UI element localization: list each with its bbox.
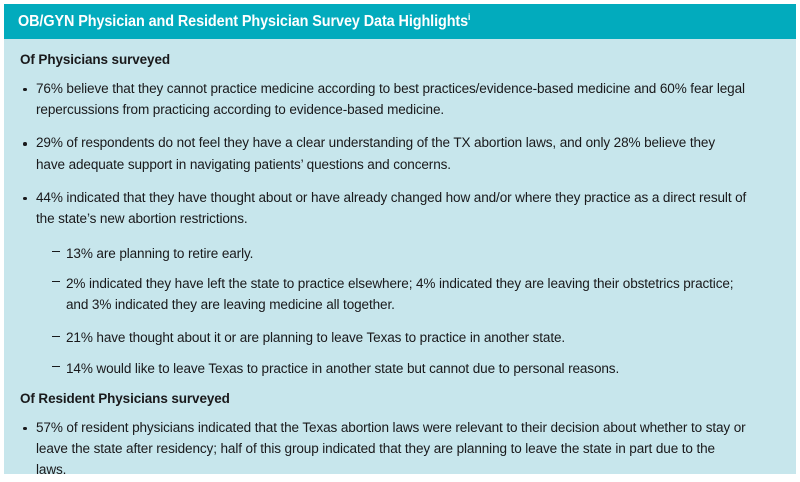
residents-bullet-list: 57% of resident physicians indicated tha… xyxy=(20,418,780,482)
bullet-dot-icon xyxy=(23,197,27,201)
section-heading-physicians: Of Physicians surveyed xyxy=(20,51,742,70)
dash-icon xyxy=(52,251,60,252)
survey-highlights-card: OB/GYN Physician and Resident Physician … xyxy=(4,4,796,474)
list-item-text: 57% of resident physicians indicated tha… xyxy=(36,418,747,482)
practice-change-sublist: 13% are planning to retire early. 2% ind… xyxy=(36,244,780,380)
sub-list-item: 2% indicated they have left the state to… xyxy=(52,274,780,317)
bullet-dot-icon xyxy=(23,88,27,92)
sub-list-item: 14% would like to leave Texas to practic… xyxy=(52,359,780,380)
page-title: OB/GYN Physician and Resident Physician … xyxy=(18,13,470,30)
page-title-text: OB/GYN Physician and Resident Physician … xyxy=(18,13,468,30)
bullet-dot-icon xyxy=(23,427,27,431)
dash-icon xyxy=(52,281,60,282)
sub-list-item: 21% have thought about it or are plannin… xyxy=(52,328,780,349)
sub-list-item-text: 21% have thought about it or are plannin… xyxy=(66,328,748,349)
dash-icon xyxy=(52,336,60,337)
list-item: 57% of resident physicians indicated tha… xyxy=(20,418,780,482)
list-item-text: 29% of respondents do not feel they have… xyxy=(36,133,747,176)
list-item-text: 44% indicated that they have thought abo… xyxy=(36,188,747,231)
bullet-dot-icon xyxy=(23,142,27,146)
footnote-marker: i xyxy=(468,12,470,22)
list-item: 76% believe that they cannot practice me… xyxy=(20,79,780,122)
list-item: 29% of respondents do not feel they have… xyxy=(20,133,780,176)
section-heading-residents: Of Resident Physicians surveyed xyxy=(20,390,742,409)
sub-list-item: 13% are planning to retire early. xyxy=(52,244,780,265)
sub-list-item-text: 2% indicated they have left the state to… xyxy=(66,274,748,317)
card-header: OB/GYN Physician and Resident Physician … xyxy=(4,4,796,39)
list-item-text: 76% believe that they cannot practice me… xyxy=(36,79,747,122)
physicians-bullet-list: 76% believe that they cannot practice me… xyxy=(20,79,780,380)
sub-list-item-text: 14% would like to leave Texas to practic… xyxy=(66,359,748,380)
list-item: 44% indicated that they have thought abo… xyxy=(20,188,780,380)
sub-list-item-text: 13% are planning to retire early. xyxy=(66,244,748,265)
dash-icon xyxy=(52,366,60,367)
card-body: Of Physicians surveyed 76% believe that … xyxy=(4,39,796,482)
